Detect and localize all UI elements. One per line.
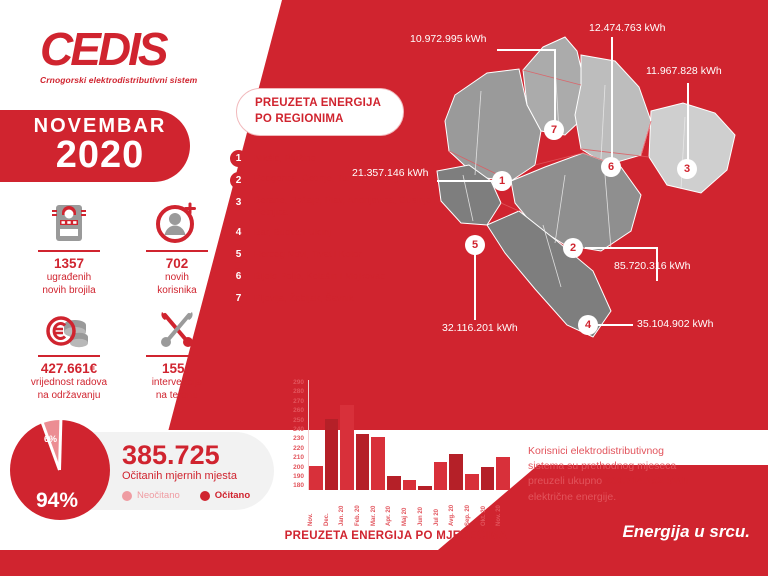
chart-x-tick: Mar. 20 <box>371 492 385 526</box>
chart-bar-column <box>403 380 417 490</box>
chart-bar <box>418 486 432 490</box>
tools-icon <box>156 305 198 349</box>
region-item-7: 7 Pljevlja, Žabljak, Šavnik <box>230 290 445 307</box>
chart-bar <box>340 405 354 490</box>
chart-y-tick: 250 <box>293 418 304 425</box>
regions-title-line2: PO REGIONIMA <box>255 113 344 125</box>
infographic-canvas: CEDIS Crnogorski elektrodistributivni si… <box>0 0 768 576</box>
map-badge-3: 3 <box>677 159 697 179</box>
readings-caption: Očitanih mjernih mjesta <box>122 470 237 482</box>
region-item-5: 5 Herceg Novi, Tivat i Kotor <box>230 246 445 263</box>
chart-bars <box>308 380 510 490</box>
chart-y-tick: 280 <box>293 389 304 396</box>
chart-x-tick: Dec. <box>324 492 338 526</box>
stats-grid: 1357 ugrađenih novih brojila 702 novih k… <box>18 200 228 402</box>
leader-line-3 <box>687 83 689 161</box>
background-bottom-band <box>0 550 768 576</box>
chart-x-tick: Sep. 20 <box>465 492 479 526</box>
chart-y-tick: 260 <box>293 408 304 415</box>
chart-plot-area: 290280270260250240230220210200190180 Nov… <box>282 380 510 495</box>
stat-new-users: 702 novih korisnika <box>126 200 228 297</box>
brand-slogan: Energija u srcu. <box>622 522 750 542</box>
map-value-5: 32.116.201 kWh <box>436 320 524 336</box>
map-value-7: 10.972.995 kWh <box>410 33 486 45</box>
chart-x-tick: Apr. 20 <box>386 492 400 526</box>
cedis-logo: CEDIS Crnogorski elektrodistributivni si… <box>40 26 197 85</box>
summary-line4: električne energije. <box>528 491 616 503</box>
map-value-6: 12.474.763 kWh <box>589 22 665 34</box>
map-badge-4: 4 <box>578 315 598 335</box>
region-number: 2 <box>230 172 247 189</box>
region-name: Herceg Novi, Tivat i Kotor <box>254 246 362 261</box>
region-number: 3 <box>230 194 247 211</box>
stat-label-line2: novih brojila <box>42 285 95 298</box>
stat-label-line2: korisnika <box>157 285 196 298</box>
stat-divider <box>146 250 208 252</box>
summary-line1: Korisnici elektrodistributivnog <box>528 445 664 457</box>
region-item-4: 4 Bar, Budva i Ulcinj <box>230 224 445 241</box>
chart-y-tick: 290 <box>293 380 304 387</box>
chart-y-tick: 270 <box>293 399 304 406</box>
region-name: Berane, Rožaje, Plav, Andrijevica, Gusin… <box>254 194 445 219</box>
summary-line2: sistema su prethodnog mjeseca <box>528 460 676 472</box>
chart-bar-column <box>340 380 354 490</box>
chart-bar <box>496 457 510 490</box>
chart-bar-column <box>309 380 323 490</box>
legend-unread: Neočitano <box>122 490 180 501</box>
stat-divider <box>146 355 208 357</box>
region-number: 7 <box>230 290 247 307</box>
stat-value: 427.661€ <box>41 361 97 377</box>
electricity-meter-icon <box>49 200 89 244</box>
readings-total: 385.725 <box>122 440 220 471</box>
stat-maintenance-value: 427.661€ vrijednost radova na održavanju <box>18 305 120 402</box>
region-name: Pljevlja, Žabljak, Šavnik <box>254 290 354 305</box>
chart-bar-column <box>465 380 479 490</box>
chart-y-tick: 230 <box>293 436 304 443</box>
leader-line-2h <box>585 247 657 249</box>
map-badge-2: 2 <box>563 238 583 258</box>
chart-bar-column <box>496 380 510 490</box>
chart-x-tick: Nov. 20 <box>496 492 510 526</box>
legend-read: Očitano <box>200 490 250 501</box>
leader-line-1 <box>437 180 495 182</box>
stat-label-line2: na održavanju <box>38 390 101 403</box>
chart-bar-column <box>371 380 385 490</box>
chart-bar <box>434 462 448 490</box>
stat-label-line1: vrijednost radova <box>31 377 107 390</box>
chart-bar-column <box>434 380 448 490</box>
chart-y-tick: 200 <box>293 465 304 472</box>
stat-interventions: 1554 intervencija na terenu <box>126 305 228 402</box>
period-year: 2020 <box>56 136 145 176</box>
region-item-3: 3 Berane, Rožaje, Plav, Andrijevica, Gus… <box>230 194 445 219</box>
stat-value: 702 <box>166 256 189 272</box>
region-item-6: 6 Bijelo Polje, Kolašin i Mojkovac <box>230 268 445 285</box>
chart-y-tick: 210 <box>293 455 304 462</box>
euro-coins-icon <box>46 305 92 349</box>
chart-bar-column <box>449 380 463 490</box>
pie-read-percent: 94% <box>36 489 78 513</box>
chart-x-axis: Nov.Dec.Jan. 20Feb. 20Mar. 20Apr. 20Maj … <box>308 492 510 526</box>
map-badge-5: 5 <box>465 235 485 255</box>
summary-text: Korisnici elektrodistributivnog sistema … <box>528 444 760 505</box>
chart-bar <box>356 434 370 490</box>
region-number: 4 <box>230 224 247 241</box>
period-banner: NOVEMBAR 2020 <box>0 110 190 182</box>
period-month: NOVEMBAR <box>34 116 167 136</box>
chart-bar-column <box>481 380 495 490</box>
chart-bar <box>387 476 401 490</box>
chart-x-tick: Jan. 20 <box>339 492 353 526</box>
stat-value: 1554 <box>162 361 192 377</box>
new-user-icon <box>156 200 198 244</box>
regions-title: PREUZETA ENERGIJA PO REGIONIMA <box>255 96 381 127</box>
map-value-1: 21.357.146 kWh <box>346 165 434 181</box>
chart-bar <box>403 480 417 490</box>
legend-unread-swatch <box>122 491 132 501</box>
map-value-2: 85.720.316 kWh <box>614 260 690 272</box>
stat-label-line1: ugrađenih <box>47 272 91 285</box>
chart-x-tick: Jun 20 <box>418 492 432 526</box>
legend-read-swatch <box>200 491 210 501</box>
legend-unread-label: Neočitano <box>137 490 180 501</box>
stat-meters: 1357 ugrađenih novih brojila <box>18 200 120 297</box>
stat-divider <box>38 355 100 357</box>
chart-bar-column <box>387 380 401 490</box>
map-badge-7: 7 <box>544 120 564 140</box>
regions-title-line1: PREUZETA ENERGIJA <box>255 97 381 109</box>
chart-x-tick: Maj 20 <box>402 492 416 526</box>
leader-line-7h <box>497 49 555 51</box>
chart-x-tick: Okt. 20 <box>481 492 495 526</box>
stat-value: 1357 <box>54 256 84 272</box>
chart-bar <box>325 419 339 490</box>
chart-bar <box>481 467 495 490</box>
chart-bar <box>465 474 479 490</box>
region-name: Bar, Budva i Ulcinj <box>254 224 331 239</box>
summary-total: 209.714.152 kWh <box>605 475 688 487</box>
monthly-energy-chart: 290280270260250240230220210200190180 Nov… <box>282 380 510 530</box>
chart-x-tick: Avg. 20 <box>449 492 463 526</box>
region-number: 1 <box>230 150 247 167</box>
chart-bar <box>309 466 323 490</box>
chart-y-tick: 240 <box>293 427 304 434</box>
map-value-3: 11.967.828 kWh <box>646 65 722 77</box>
map-region-6 <box>575 55 651 165</box>
chart-x-tick: Feb. 20 <box>355 492 369 526</box>
pie-unread-percent: 6% <box>44 434 57 444</box>
map-badge-1: 1 <box>492 171 512 191</box>
chart-y-tick: 190 <box>293 474 304 481</box>
chart-x-tick: Nov. <box>308 492 322 526</box>
chart-bar-column <box>356 380 370 490</box>
legend-read-label: Očitano <box>215 490 250 501</box>
map-region-3 <box>649 103 735 193</box>
logo-wordmark: CEDIS <box>40 26 197 72</box>
map-value-4: 35.104.902 kWh <box>637 318 713 330</box>
chart-y-axis: 290280270260250240230220210200190180 <box>282 380 304 490</box>
region-name: Bijelo Polje, Kolašin i Mojkovac <box>254 268 385 283</box>
leader-line-6 <box>611 37 613 159</box>
chart-x-tick: Jul 20 <box>434 492 448 526</box>
region-number: 5 <box>230 246 247 263</box>
stat-label-line1: novih <box>165 272 189 285</box>
region-name: Nikšić, Plužine <box>254 150 316 165</box>
region-number: 6 <box>230 268 247 285</box>
chart-bar-column <box>418 380 432 490</box>
chart-bar-column <box>325 380 339 490</box>
chart-title: PREUZETA ENERGIJA PO MJESECIMA <box>282 530 510 542</box>
leader-line-5v <box>474 247 476 325</box>
map-badge-6: 6 <box>601 157 621 177</box>
stat-label-line1: intervencija <box>152 377 203 390</box>
chart-bar <box>449 454 463 490</box>
leader-line-4h <box>597 324 633 326</box>
leader-line-7 <box>554 49 556 123</box>
logo-tagline: Crnogorski elektrodistributivni sistem <box>40 75 197 85</box>
chart-bar <box>371 437 385 490</box>
chart-y-tick: 220 <box>293 446 304 453</box>
chart-y-tick: 180 <box>293 483 304 490</box>
regions-title-pill: PREUZETA ENERGIJA PO REGIONIMA <box>236 88 404 136</box>
pie-legend: Neočitano Očitano <box>122 490 250 501</box>
stat-divider <box>38 250 100 252</box>
stat-label-line2: na terenu <box>156 390 198 403</box>
summary-line3: preuzeli ukupno <box>528 475 602 487</box>
